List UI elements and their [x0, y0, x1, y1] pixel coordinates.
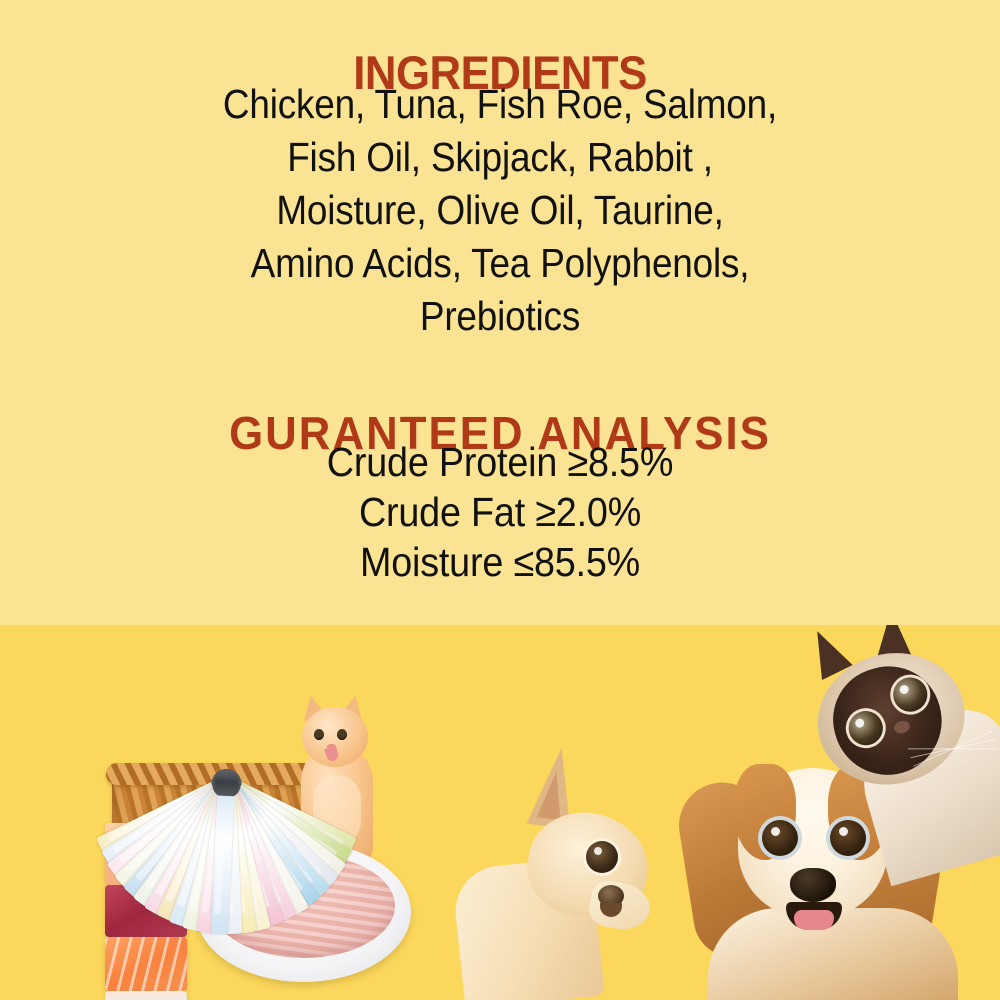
kitten-eye-right — [337, 729, 347, 740]
ingredients-line: Moisture, Olive Oil, Taurine, — [50, 184, 950, 237]
kitten-eye-left — [314, 729, 324, 740]
spaniel-tongue — [794, 910, 834, 930]
analysis-line: Moisture ≤85.5% — [40, 537, 960, 587]
ingredients-line: Chicken, Tuna, Fish Roe, Salmon, — [50, 78, 950, 131]
ingredients-line: Prebiotics — [50, 290, 950, 343]
chihuahua-eye — [586, 841, 618, 873]
ingredients-list: Chicken, Tuna, Fish Roe, Salmon, Fish Oi… — [0, 78, 1000, 343]
spaniel-nose — [790, 868, 836, 902]
ingredients-line: Fish Oil, Skipjack, Rabbit , — [50, 131, 950, 184]
product-info-graphic: INGREDIENTS Chicken, Tuna, Fish Roe, Sal… — [0, 0, 1000, 1000]
ingredients-line: Amino Acids, Tea Polyphenols, — [50, 237, 950, 290]
analysis-line: Crude Fat ≥2.0% — [40, 487, 960, 537]
spaniel-eye-left — [762, 820, 798, 856]
analysis-line: Crude Protein ≥8.5% — [40, 437, 960, 487]
product-photo-panel — [0, 625, 1000, 1000]
chihuahua-dog — [470, 743, 685, 1000]
meat-block-base — [105, 991, 187, 1000]
nutrition-info-panel: INGREDIENTS Chicken, Tuna, Fish Roe, Sal… — [0, 0, 1000, 625]
meat-block-salmon — [105, 937, 187, 991]
guaranteed-analysis-list: Crude Protein ≥8.5% Crude Fat ≥2.0% Mois… — [0, 437, 1000, 587]
